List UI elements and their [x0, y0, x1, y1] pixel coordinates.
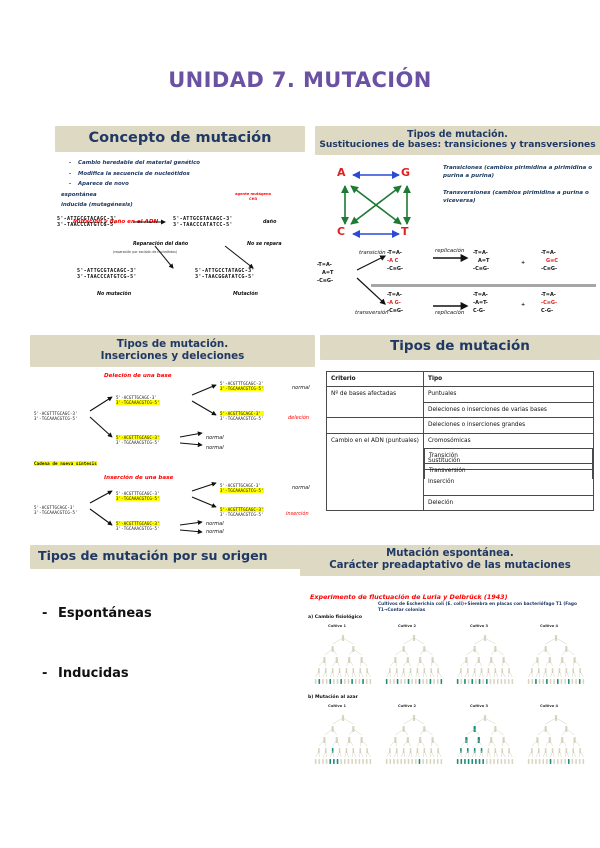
transition-result-2: -T=A- G≡C -C≡G- [541, 250, 558, 273]
transversion-result-1: -T=A- -A=T- C-G- [473, 292, 488, 315]
table-row: Nº de bases afectadas Puntuales [327, 387, 594, 402]
concepto-dna-diagram: 5'-ATTGCGTACAGC-3' 3'-TAACCCATGTCG-5' 5'… [55, 210, 305, 314]
delecion-mid-seq: 5'-ACGTTGCAGC-3' 3'-TGCAAACGTCG-5' [116, 395, 160, 405]
insercion-parent-seq: 5'-ACGTTGCAGC-3' 3'-TGCAAACGTCG-5' [34, 505, 78, 515]
panel-concepto-header: Concepto de mutación [55, 126, 305, 152]
culture-label-a3: Cultivo 3 [470, 624, 488, 628]
panel-mutacion-espontanea: Mutación espontánea. Carácter preadaptat… [300, 545, 600, 790]
op-replicacion-top: replicación [435, 248, 464, 254]
transition-result-1: -T=A- A=T -C≡G- [473, 250, 489, 273]
column-header-criterio: Criterio [327, 372, 424, 387]
mutagen-label-group: agente mutágeno CH3 [235, 192, 271, 202]
list-item: -Aparece de novo [69, 179, 305, 190]
lineage-trees-row-b [304, 711, 596, 773]
transversion-result-2: -T=A- -C≡G- C-G- [541, 292, 557, 315]
panel-tabla-header: Tipos de mutación [320, 335, 600, 360]
label-normal-3: normal [206, 445, 224, 451]
replication-diagram: -T=A- A=T -C≡G- transición transversión … [315, 248, 600, 328]
list-item-espontaneas: -Espontáneas [42, 607, 152, 620]
table-header-row: Criterio Tipo [327, 372, 594, 387]
legend-transversiones: Transversiones (cambios pirimidina a pur… [443, 189, 593, 205]
culture-label-b4: Cultivo 4 [540, 704, 558, 708]
bullet-dash: - [42, 667, 58, 680]
cell-tipo-puntuales: Puntuales [424, 387, 594, 402]
concepto-bullet-list: -Cambio heredable del material genético … [69, 158, 305, 190]
panel-origen-header: Tipos de mutación por su origen [30, 545, 315, 569]
base-node-t: T [401, 225, 409, 238]
tipos-mutacion-table: Criterio Tipo Nº de bases afectadas Punt… [326, 371, 594, 511]
culture-label-a1: Cultivo 1 [328, 624, 346, 628]
plus-sign-bottom: + [521, 302, 525, 310]
panel-tabla-tipos-mutacion: Tipos de mutación Criterio Tipo Nº de ba… [320, 335, 600, 535]
table-row: Deleciones o inserciones grandes [327, 418, 594, 433]
label-mutacion: Mutación [233, 292, 258, 297]
cell-criterio-1: Nº de bases afectadas [327, 387, 424, 418]
panel-tipos-por-origen: Tipos de mutación por su origen -Espontá… [30, 545, 315, 720]
panel-concepto-de-mutacion: Concepto de mutación -Cambio heredable d… [55, 126, 305, 316]
label-normal-6: normal [206, 529, 224, 535]
plus-sign-top: + [521, 260, 525, 268]
label-cadena-nueva: Cadena de nueva síntesis [34, 461, 97, 466]
delecion-out-mutant: 5'-ACGTTGCAGC-3' 3'-TGCAAACGTCG-5' [220, 411, 264, 421]
insercion-mid-seq: 5'-ACGTTTGCAGC-3' 3'-TGCAAACGTCG-5' [116, 491, 160, 501]
culture-label-b3: Cultivo 3 [470, 704, 488, 708]
op-transversion: transversión [355, 310, 389, 316]
cell-tipo-sustitucion-group: Transición Transversión Sustitución [424, 448, 594, 470]
delecion-parent-seq: 5'-ACGTTTGCAGC-3' 3'-TGCAAACGTCG-5' [34, 411, 78, 421]
section-b-label: b) Mutación al azar [308, 695, 358, 700]
cell-sustitucion-label: Sustitución [424, 457, 593, 469]
list-item: -Modifica la secuencia de nucleótidos [69, 169, 305, 180]
transversion-block: -T=A- -A G- -C≡G- [387, 292, 403, 315]
origen-label-espontaneas: Espontáneas [58, 606, 152, 621]
label-normal-2: normal [206, 435, 224, 441]
seq-top-left: 5'-ATTGCGTACAGC-3' 3'-TAACCCATGTCG-5' [57, 216, 117, 228]
cell-delecion: Deleción [424, 495, 594, 510]
culture-label-b2: Cultivo 2 [398, 704, 416, 708]
bullet-dash: - [42, 607, 58, 620]
cell-criterio-2: Cambio en el ADN (puntuales) [327, 433, 424, 510]
insercion-out-normal: 5'-ACGTTGCAGC-3' 3'-TGCAAACGTCG-5' [220, 483, 264, 493]
origen-label-inducidas: Inducidas [58, 666, 129, 681]
label-no-mutacion: No mutación [97, 292, 131, 297]
panel-inserciones-header: Tipos de mutación. Inserciones y delecio… [30, 335, 315, 367]
panel-inserciones-deleciones: Tipos de mutación. Inserciones y delecio… [30, 335, 315, 535]
column-header-tipo: Tipo [424, 372, 594, 387]
experiment-title: Experimento de fluctuación de Luria y De… [310, 593, 508, 601]
experiment-caption: Cultivos de Escherichia coli (E. coli)+S… [378, 602, 590, 614]
cell-tipo-cromosomicas: Cromosómicas [424, 433, 594, 448]
label-reparacion: Reparación del daño [133, 242, 188, 247]
label-dano: daño [263, 220, 276, 225]
panel-espontanea-header: Mutación espontánea. Carácter preadaptat… [300, 545, 600, 576]
transition-block: -T=A- -A C -C≡G- [387, 250, 403, 273]
table-row: Cambio en el ADN (puntuales) Cromosómica… [327, 433, 594, 448]
base-graph-legend: Transiciones (cambios pirimidina a pirim… [443, 164, 593, 205]
legend-transiciones: Transiciones (cambios pirimidina a pirim… [443, 164, 593, 180]
panel-sustituciones-de-bases: Tipos de mutación. Sustituciones de base… [315, 126, 600, 331]
seq-bottom-left: 5'-ATTGCGTACAGC-3' 3'-TAACCCATGTCG-5' [77, 268, 137, 280]
delecion-mid-seq-2: 5'-ACGTTTGCAGC-3' 3'-TGCAAACGTCG-5' [116, 435, 160, 445]
label-insercion: inserción [286, 511, 309, 517]
ch3-label: CH3 [235, 197, 271, 202]
label-delecion: deleción [288, 415, 309, 421]
start-block: -T=A- A=T -C≡G- [317, 262, 333, 285]
seq-bottom-right: 5'-ATTGCCTATAGC-3' 3'-TAACGGATATCG-5' [195, 268, 255, 280]
panel-sustituciones-header: Tipos de mutación. Sustituciones de base… [315, 126, 600, 155]
base-node-a: A [337, 166, 346, 179]
culture-label-b1: Cultivo 1 [328, 704, 346, 708]
insercion-bottom-seq: 5'-ACGTTTGCAGC-3' 3'-TGCAAACGTCG-5' [116, 521, 160, 531]
lineage-trees-row-a [304, 631, 596, 693]
culture-label-a4: Cultivo 4 [540, 624, 558, 628]
label-no-reparado: No se repara [247, 242, 282, 247]
cell-tipo-del-ins-varias: Deleciones o inserciones de varias bases [424, 402, 594, 417]
section-a-label: a) Cambio fisiológico [308, 615, 362, 620]
label-normal-5: normal [206, 521, 224, 527]
cell-tipo-del-ins-grandes: Deleciones o inserciones grandes [424, 418, 594, 433]
insercion-out-mutant: 5'-ACGTTTGCAGC-3' 3'-TGCAAACGTCG-5' [220, 507, 264, 517]
delecion-arrows [30, 379, 315, 469]
op-replicacion-bottom: replicación [435, 310, 464, 316]
list-item-inducidas: -Inducidas [42, 667, 152, 680]
page-title: UNIDAD 7. MUTACIÓN [0, 68, 600, 92]
origen-list: -Espontáneas -Inducidas [42, 607, 152, 727]
label-reparacion-sub: (reparación por escisión de nucleótidos) [113, 250, 177, 254]
base-node-c: C [337, 225, 345, 238]
label-normal-1: normal [292, 385, 310, 391]
base-graph-arrows [331, 166, 441, 244]
op-transicion: transición [359, 250, 386, 256]
label-normal-4: normal [292, 485, 310, 491]
delecion-out-normal: 5'-ACGTTTGCAGC-3' 3'-TGCAAACGTCG-5' [220, 381, 264, 391]
base-node-g: G [401, 166, 410, 179]
list-item: -Cambio heredable del material genético [69, 158, 305, 169]
divider [371, 284, 596, 287]
seq-top-right: 5'-ATTGCGTACAGC-3' 3'-TAACCCATATCC-5' [173, 216, 233, 228]
base-substitution-graph: A G C T [331, 166, 441, 244]
culture-label-a2: Cultivo 2 [398, 624, 416, 628]
cell-criterio-blank [327, 418, 424, 433]
